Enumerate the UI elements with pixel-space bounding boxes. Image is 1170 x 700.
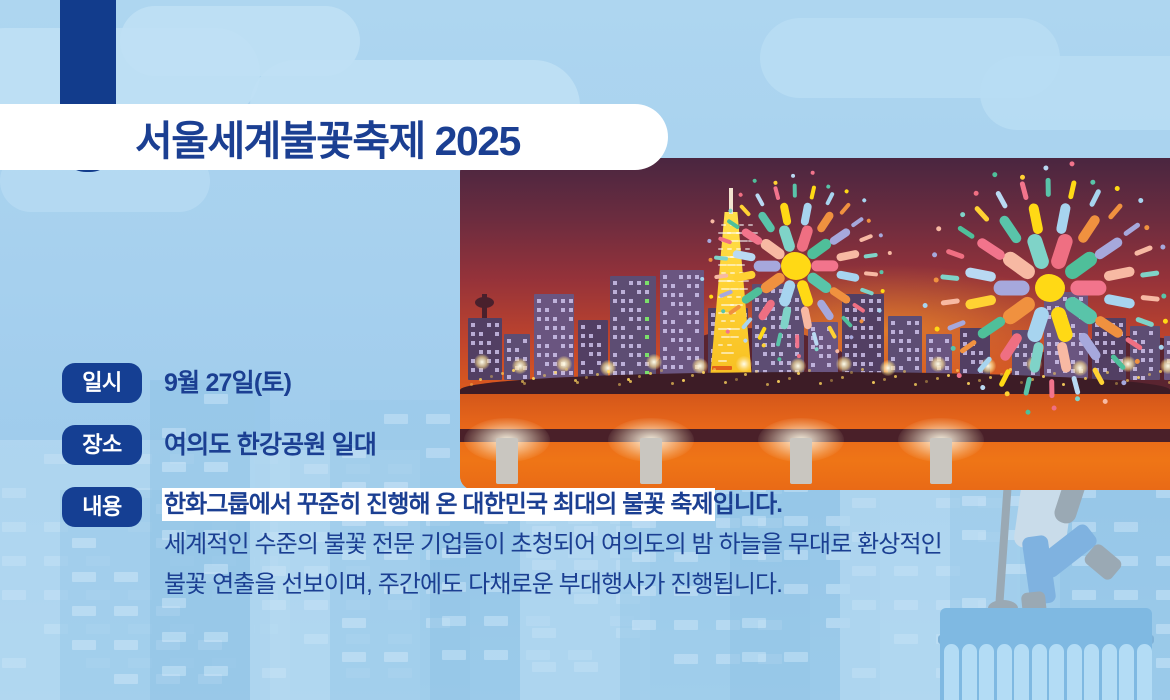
event-poster: 2 서울세계불꽃축제 2025 일시 9월 27일(토) 장소 여의도 한강공원… bbox=[0, 0, 1170, 700]
cloud-shape bbox=[120, 6, 360, 76]
content-body: 한화그룹에서 꾸준히 진행해 온 대한민국 최대의 불꽃 축제입니다. 세계적인… bbox=[164, 485, 942, 605]
label-content: 내용 bbox=[62, 487, 142, 527]
value-place: 여의도 한강공원 일대 bbox=[164, 425, 376, 465]
content-line-3: 불꽃 연출을 선보이며, 주간에도 다채로운 부대행사가 진행됩니다. bbox=[164, 565, 942, 605]
fence-picket bbox=[1102, 644, 1117, 700]
content-line-1: 한화그룹에서 꾸준히 진행해 온 대한민국 최대의 불꽃 축제입니다. bbox=[164, 485, 942, 525]
cloud-shape bbox=[760, 18, 1060, 98]
fence-picket bbox=[1119, 644, 1134, 700]
content-line-1-tail: 입니다. bbox=[713, 491, 782, 518]
info-row-place: 장소 여의도 한강공원 일대 bbox=[62, 425, 1122, 465]
content-highlight: 한화그룹에서 꾸준히 진행해 온 대한민국 최대의 불꽃 축제 bbox=[164, 490, 713, 519]
value-date: 9월 27일(토) bbox=[164, 363, 291, 403]
fence-picket bbox=[962, 644, 977, 700]
label-date: 일시 bbox=[62, 363, 142, 403]
fence-picket bbox=[1049, 644, 1064, 700]
info-row-date: 일시 9월 27일(토) bbox=[62, 363, 1122, 403]
fence-picket bbox=[1067, 644, 1082, 700]
content-line-2: 세계적인 수준의 불꽃 전문 기업들이 초청되어 여의도의 밤 하늘을 무대로 … bbox=[164, 525, 942, 565]
fence-picket bbox=[1032, 644, 1047, 700]
fence-picket bbox=[1137, 644, 1152, 700]
info-section: 일시 9월 27일(토) 장소 여의도 한강공원 일대 내용 한화그룹에서 꾸준… bbox=[62, 363, 1122, 605]
fence-picket bbox=[944, 644, 959, 700]
fence-picket bbox=[997, 644, 1012, 700]
firework-burst-left bbox=[706, 176, 886, 356]
label-place: 장소 bbox=[62, 425, 142, 465]
page-title: 서울세계불꽃축제 2025 bbox=[135, 107, 520, 167]
fence-picket bbox=[1084, 644, 1099, 700]
firework-core bbox=[1035, 274, 1065, 302]
info-row-content: 내용 한화그룹에서 꾸준히 진행해 온 대한민국 최대의 불꽃 축제입니다. 세… bbox=[62, 487, 1122, 605]
cloud-shape bbox=[980, 56, 1170, 130]
n-seoul-tower-head bbox=[475, 297, 494, 308]
fence-picket bbox=[979, 644, 994, 700]
fence-picket bbox=[1014, 644, 1029, 700]
number-badge: 2 bbox=[60, 110, 116, 166]
